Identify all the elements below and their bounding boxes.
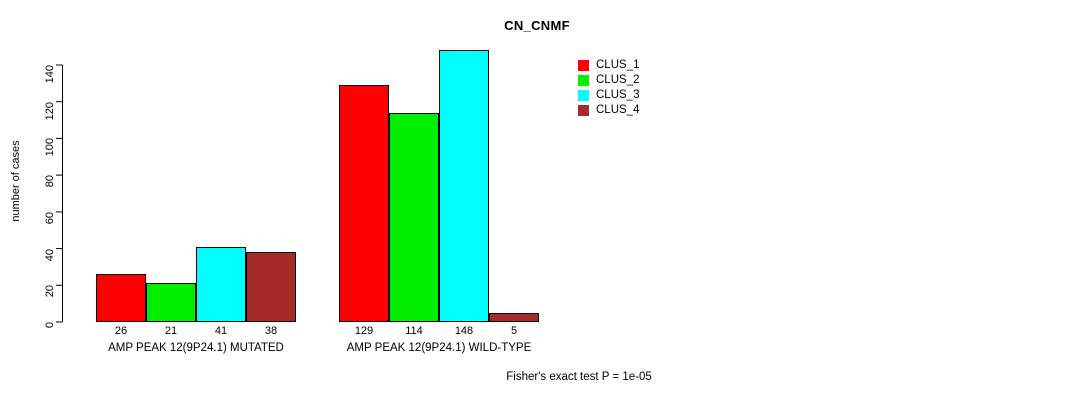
legend-label: CLUS_1 (596, 60, 639, 71)
chart-canvas: CN_CNMF number of cases 0 20 40 60 80 10… (0, 0, 1090, 400)
bar-count-label: 38 (246, 325, 296, 337)
y-tick-label-140: 140 (44, 65, 56, 125)
legend-item-clus2[interactable]: CLUS_2 (578, 73, 639, 88)
legend-swatch-icon (578, 105, 589, 116)
legend-swatch-icon (578, 90, 589, 101)
fisher-test-annotation: Fisher's exact test P = 1e-05 (419, 371, 739, 383)
bar-count-label: 129 (339, 325, 389, 337)
bar-group1-clus1[interactable] (96, 274, 146, 322)
bar-group1-clus3[interactable] (196, 247, 246, 322)
bar-group1-clus2[interactable] (146, 283, 196, 322)
legend-item-clus4[interactable]: CLUS_4 (578, 103, 639, 118)
legend-swatch-icon (578, 60, 589, 71)
bar-group2-clus3[interactable] (439, 50, 489, 322)
legend-label: CLUS_4 (596, 105, 639, 116)
bar-count-label: 148 (439, 325, 489, 337)
legend-item-clus1[interactable]: CLUS_1 (578, 58, 639, 73)
bar-group2-clus4[interactable] (489, 313, 539, 322)
bar-count-label: 21 (146, 325, 196, 337)
bar-group2-clus2[interactable] (389, 113, 439, 322)
bar-count-label: 5 (489, 325, 539, 337)
group-label-wildtype: AMP PEAK 12(9P24.1) WILD-TYPE (319, 342, 559, 354)
bar-group1-clus4[interactable] (246, 252, 296, 322)
legend-label: CLUS_2 (596, 75, 639, 86)
bar-group2-clus1[interactable] (339, 85, 389, 322)
chart-title: CN_CNMF (0, 18, 1082, 33)
bar-count-label: 41 (196, 325, 246, 337)
legend-label: CLUS_3 (596, 90, 639, 101)
y-axis-title: number of cases (10, 121, 22, 241)
group-label-mutated: AMP PEAK 12(9P24.1) MUTATED (76, 342, 316, 354)
legend-item-clus3[interactable]: CLUS_3 (578, 88, 639, 103)
legend-swatch-icon (578, 75, 589, 86)
bar-count-label: 114 (389, 325, 439, 337)
bar-count-label: 26 (96, 325, 146, 337)
y-axis-line (0, 0, 1090, 400)
legend: CLUS_1 CLUS_2 CLUS_3 CLUS_4 (578, 58, 639, 118)
